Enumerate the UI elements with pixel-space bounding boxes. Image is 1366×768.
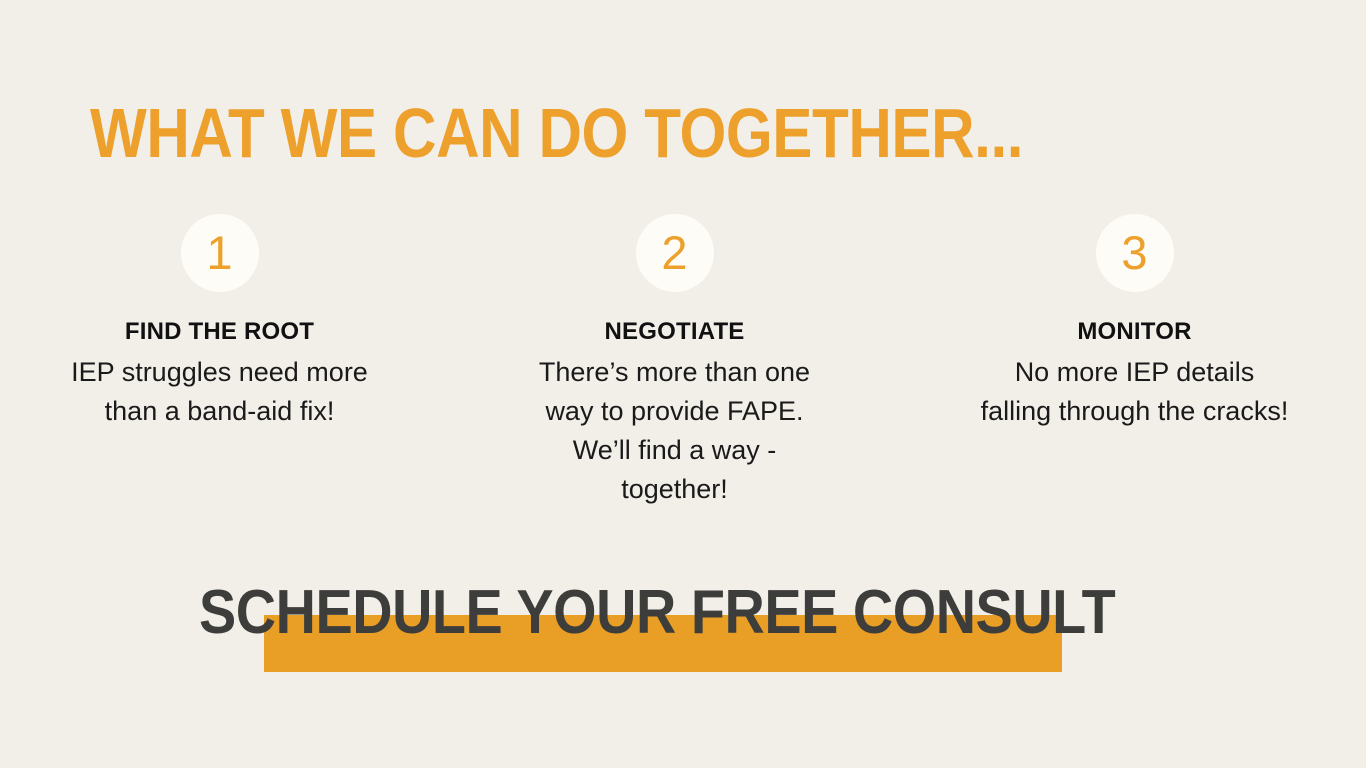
step-title-1: FIND THE ROOT <box>125 317 314 347</box>
step-body-3: No more IEP details falling through the … <box>980 353 1290 431</box>
steps-row: 1 FIND THE ROOT IEP struggles need more … <box>0 214 1366 509</box>
page-title: WHAT WE CAN DO TOGETHER... <box>90 96 1023 170</box>
step-item-2: 2 NEGOTIATE There’s more than one way to… <box>447 214 902 509</box>
step-item-1: 1 FIND THE ROOT IEP struggles need more … <box>0 214 447 431</box>
step-title-3: MONITOR <box>1077 317 1191 347</box>
step-body-2: There’s more than one way to provide FAP… <box>525 353 825 509</box>
cta-label[interactable]: SCHEDULE YOUR FREE CONSULT <box>199 580 1115 646</box>
step-number-badge-1: 1 <box>181 214 259 292</box>
step-number-2: 2 <box>661 229 687 276</box>
step-number-badge-3: 3 <box>1096 214 1174 292</box>
step-number-1: 1 <box>206 229 232 276</box>
slide-canvas: WHAT WE CAN DO TOGETHER... 1 FIND THE RO… <box>0 0 1366 768</box>
step-title-2: NEGOTIATE <box>604 317 744 347</box>
cta-banner[interactable]: SCHEDULE YOUR FREE CONSULT <box>0 580 1366 690</box>
step-number-3: 3 <box>1121 229 1147 276</box>
step-number-badge-2: 2 <box>636 214 714 292</box>
step-item-3: 3 MONITOR No more IEP details falling th… <box>907 214 1362 431</box>
step-body-1: IEP struggles need more than a band-aid … <box>55 353 385 431</box>
